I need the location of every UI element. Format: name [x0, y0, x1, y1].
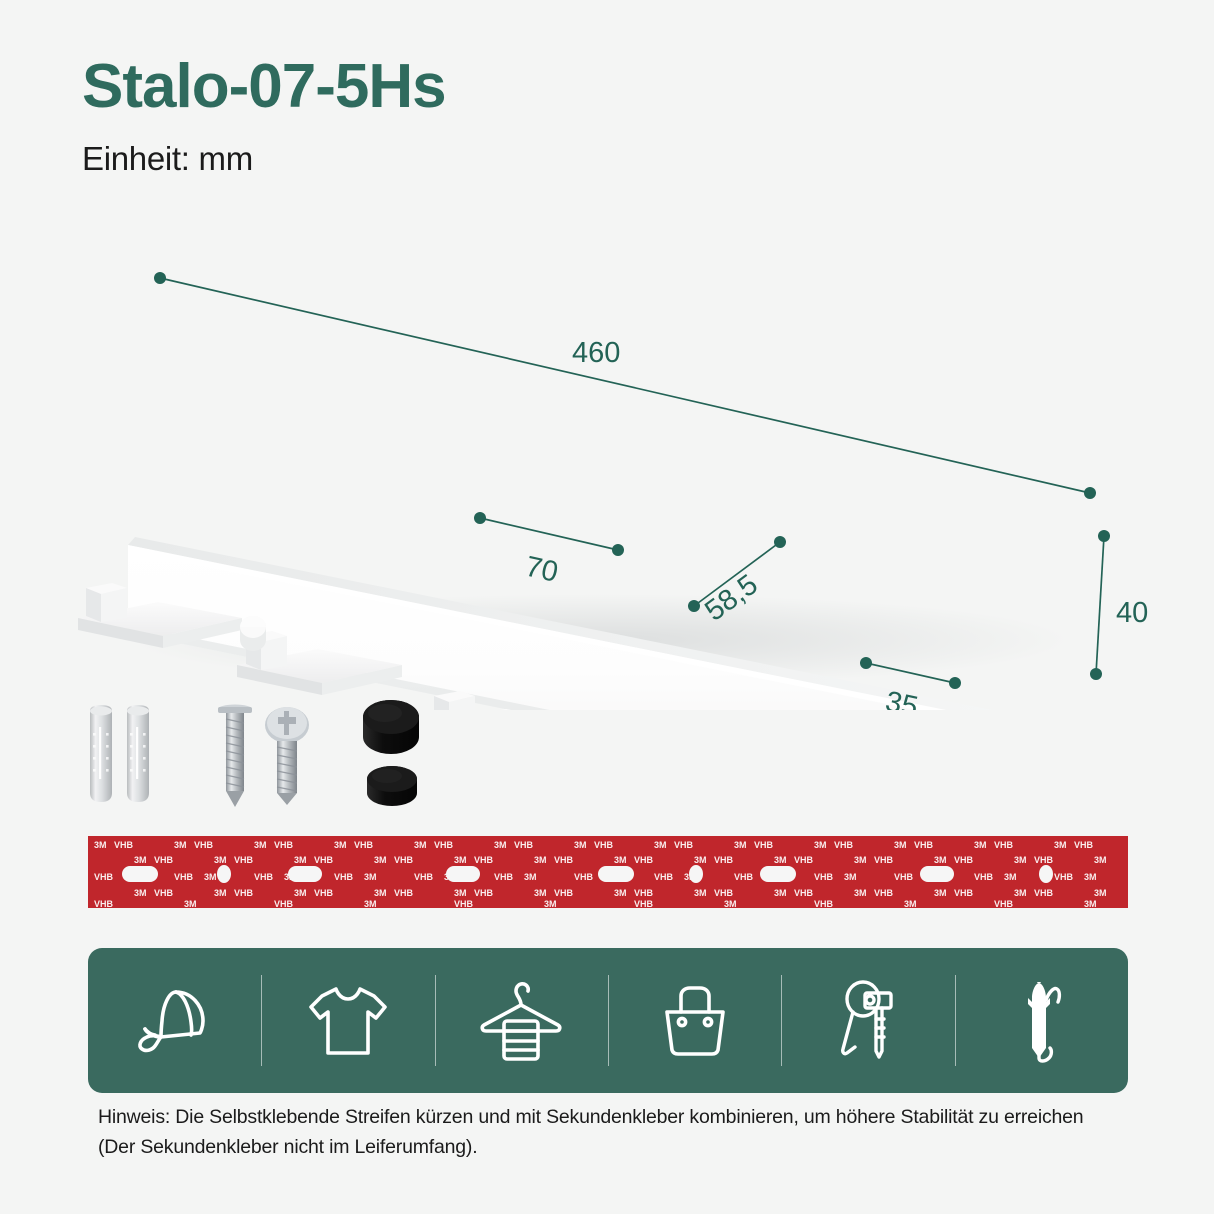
- svg-text:VHB: VHB: [554, 888, 574, 898]
- svg-text:VHB: VHB: [914, 840, 934, 850]
- svg-text:3M: 3M: [494, 840, 507, 850]
- svg-text:VHB: VHB: [434, 840, 454, 850]
- use-case-icon-panel: [88, 948, 1128, 1093]
- screw-1: [218, 705, 252, 808]
- svg-text:3M: 3M: [814, 840, 827, 850]
- svg-text:VHB: VHB: [814, 899, 834, 908]
- svg-text:3M: 3M: [1084, 872, 1097, 882]
- svg-text:3M: 3M: [134, 888, 147, 898]
- svg-text:3M: 3M: [214, 855, 227, 865]
- wall-plug-1: [90, 705, 112, 802]
- svg-text:3M: 3M: [204, 872, 217, 882]
- svg-text:VHB: VHB: [314, 855, 334, 865]
- icon-cell-umbrella: [955, 948, 1128, 1093]
- svg-text:3M: 3M: [854, 888, 867, 898]
- svg-text:VHB: VHB: [1034, 855, 1054, 865]
- tshirt-icon: [306, 983, 390, 1059]
- cap-icon: [129, 984, 221, 1058]
- footer-note: Hinweis: Die Selbstklebende Streifen kür…: [98, 1102, 1133, 1162]
- svg-text:VHB: VHB: [314, 888, 334, 898]
- rail-knob-2: [240, 616, 266, 651]
- svg-text:3M: 3M: [544, 899, 557, 908]
- svg-text:VHB: VHB: [794, 855, 814, 865]
- svg-text:3M: 3M: [1014, 888, 1027, 898]
- svg-text:3M: 3M: [534, 888, 547, 898]
- svg-text:VHB: VHB: [194, 840, 214, 850]
- svg-text:VHB: VHB: [254, 872, 274, 882]
- footer-note-line-2: (Der Sekundenkleber nicht im Leiferumfan…: [98, 1132, 1133, 1162]
- adhesive-strip: 3MVHB 3MVHB 3MVHB 3MVHB 3MVHB 3MVHB 3MVH…: [88, 836, 1128, 908]
- svg-text:3M: 3M: [844, 872, 857, 882]
- svg-text:VHB: VHB: [354, 840, 374, 850]
- svg-text:3M: 3M: [1094, 888, 1107, 898]
- svg-text:VHB: VHB: [394, 855, 414, 865]
- svg-text:VHB: VHB: [874, 855, 894, 865]
- svg-text:VHB: VHB: [514, 840, 534, 850]
- unit-label: Einheit: mm: [82, 140, 446, 178]
- handbag-icon: [655, 982, 735, 1060]
- icon-cell-keys: [781, 948, 954, 1093]
- svg-text:3M: 3M: [364, 872, 377, 882]
- svg-text:VHB: VHB: [114, 840, 134, 850]
- svg-text:VHB: VHB: [754, 840, 774, 850]
- dimension-hook-spacing: 70: [474, 512, 624, 589]
- svg-text:VHB: VHB: [714, 855, 734, 865]
- dimension-label-hook-base: 35: [883, 686, 921, 710]
- svg-text:3M: 3M: [134, 855, 147, 865]
- svg-text:VHB: VHB: [1054, 872, 1074, 882]
- header: Stalo-07-5Hs Einheit: mm: [82, 56, 446, 178]
- svg-text:3M: 3M: [574, 840, 587, 850]
- svg-text:3M: 3M: [724, 899, 737, 908]
- svg-text:VHB: VHB: [834, 840, 854, 850]
- svg-text:3M: 3M: [294, 888, 307, 898]
- svg-text:3M: 3M: [1054, 840, 1067, 850]
- dimension-height: 40: [1090, 530, 1148, 680]
- svg-text:VHB: VHB: [954, 888, 974, 898]
- svg-text:VHB: VHB: [234, 888, 254, 898]
- svg-text:3M: 3M: [414, 840, 427, 850]
- icon-cell-tshirt: [261, 948, 434, 1093]
- svg-text:VHB: VHB: [714, 888, 734, 898]
- svg-text:VHB: VHB: [954, 855, 974, 865]
- svg-text:VHB: VHB: [174, 872, 194, 882]
- svg-text:3M: 3M: [934, 855, 947, 865]
- svg-text:3M: 3M: [334, 840, 347, 850]
- wall-plug-2: [127, 705, 149, 802]
- svg-text:VHB: VHB: [154, 855, 174, 865]
- svg-text:VHB: VHB: [1034, 888, 1054, 898]
- svg-text:3M: 3M: [934, 888, 947, 898]
- svg-text:VHB: VHB: [634, 855, 654, 865]
- svg-text:VHB: VHB: [734, 872, 754, 882]
- svg-text:3M: 3M: [254, 840, 267, 850]
- svg-text:VHB: VHB: [994, 840, 1014, 850]
- svg-text:3M: 3M: [524, 872, 537, 882]
- icon-cell-hanger: [435, 948, 608, 1093]
- svg-text:VHB: VHB: [1074, 840, 1094, 850]
- svg-text:VHB: VHB: [634, 888, 654, 898]
- svg-text:3M: 3M: [364, 899, 377, 908]
- svg-text:3M: 3M: [694, 855, 707, 865]
- black-cap-1: [363, 700, 419, 754]
- svg-text:3M: 3M: [974, 840, 987, 850]
- page-title: Stalo-07-5Hs: [82, 56, 446, 118]
- svg-text:3M: 3M: [214, 888, 227, 898]
- svg-text:VHB: VHB: [274, 840, 294, 850]
- svg-text:3M: 3M: [1014, 855, 1027, 865]
- hanger-icon: [476, 979, 566, 1063]
- svg-text:VHB: VHB: [334, 872, 354, 882]
- svg-text:3M: 3M: [534, 855, 547, 865]
- svg-text:VHB: VHB: [574, 872, 594, 882]
- svg-text:VHB: VHB: [474, 888, 494, 898]
- svg-text:VHB: VHB: [674, 840, 694, 850]
- svg-text:VHB: VHB: [94, 872, 114, 882]
- svg-text:3M: 3M: [374, 888, 387, 898]
- footer-note-line-1: Hinweis: Die Selbstklebende Streifen kür…: [98, 1102, 1133, 1132]
- svg-text:VHB: VHB: [474, 855, 494, 865]
- svg-text:VHB: VHB: [654, 872, 674, 882]
- svg-text:VHB: VHB: [594, 840, 614, 850]
- dimension-label-height: 40: [1116, 597, 1148, 629]
- svg-text:VHB: VHB: [894, 872, 914, 882]
- svg-text:3M: 3M: [614, 888, 627, 898]
- svg-text:3M: 3M: [904, 899, 917, 908]
- svg-text:3M: 3M: [1004, 872, 1017, 882]
- svg-text:3M: 3M: [94, 840, 107, 850]
- svg-text:VHB: VHB: [394, 888, 414, 898]
- svg-text:3M: 3M: [174, 840, 187, 850]
- svg-text:3M: 3M: [774, 888, 787, 898]
- dimension-length: 460: [154, 272, 1096, 499]
- svg-text:3M: 3M: [774, 855, 787, 865]
- svg-text:VHB: VHB: [554, 855, 574, 865]
- svg-text:3M: 3M: [894, 840, 907, 850]
- svg-text:3M: 3M: [614, 855, 627, 865]
- svg-text:3M: 3M: [734, 840, 747, 850]
- svg-text:3M: 3M: [374, 855, 387, 865]
- svg-text:VHB: VHB: [274, 899, 294, 908]
- svg-text:3M: 3M: [654, 840, 667, 850]
- icon-cell-handbag: [608, 948, 781, 1093]
- product-diagram: 460 70 58,5 35 40: [0, 240, 1214, 710]
- dimension-label-length: 460: [572, 337, 620, 369]
- svg-text:VHB: VHB: [874, 888, 894, 898]
- svg-text:VHB: VHB: [794, 888, 814, 898]
- screw-2: [265, 707, 309, 805]
- svg-text:VHB: VHB: [814, 872, 834, 882]
- svg-text:3M: 3M: [694, 888, 707, 898]
- svg-text:3M: 3M: [854, 855, 867, 865]
- black-cap-2: [367, 766, 417, 806]
- svg-text:3M: 3M: [1094, 855, 1107, 865]
- svg-text:VHB: VHB: [454, 899, 474, 908]
- svg-text:VHB: VHB: [94, 899, 114, 908]
- keys-icon: [829, 979, 907, 1063]
- svg-text:VHB: VHB: [154, 888, 174, 898]
- hardware-accessories: [82, 695, 462, 820]
- svg-text:VHB: VHB: [634, 899, 654, 908]
- svg-text:3M: 3M: [454, 855, 467, 865]
- dimension-label-hook-spacing: 70: [522, 551, 560, 589]
- svg-text:VHB: VHB: [494, 872, 514, 882]
- icon-cell-cap: [88, 948, 261, 1093]
- svg-text:VHB: VHB: [234, 855, 254, 865]
- svg-text:3M: 3M: [1084, 899, 1097, 908]
- umbrella-icon: [1005, 978, 1077, 1064]
- svg-text:3M: 3M: [184, 899, 197, 908]
- svg-text:VHB: VHB: [974, 872, 994, 882]
- svg-text:VHB: VHB: [994, 899, 1014, 908]
- svg-text:VHB: VHB: [414, 872, 434, 882]
- svg-text:3M: 3M: [454, 888, 467, 898]
- svg-text:3M: 3M: [294, 855, 307, 865]
